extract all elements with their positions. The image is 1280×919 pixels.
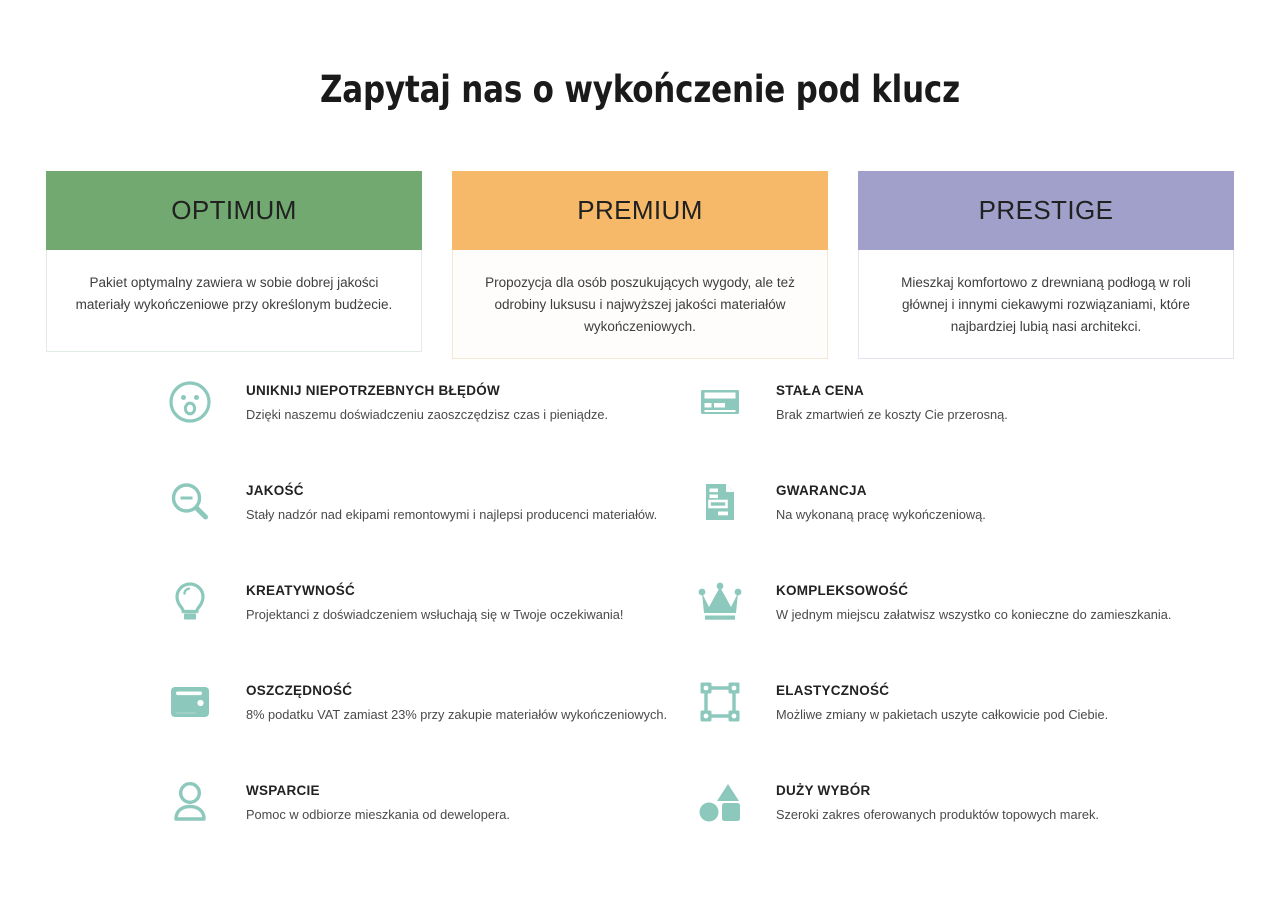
landing-page: Zapytaj nas o wykończenie pod klucz OPTI… <box>0 0 1280 919</box>
feature-title: STAŁA CENA <box>776 383 1008 398</box>
feature-text: KREATYWNOŚĆ Projektanci z doświadczeniem… <box>246 572 623 624</box>
feature-item: ELASTYCZNOŚĆ Możliwe zmiany w pakietach … <box>680 672 1210 772</box>
feature-text: KOMPLEKSOWOŚĆ W jednym miejscu załatwisz… <box>776 572 1171 624</box>
package-card-header: PREMIUM <box>452 171 828 250</box>
feature-item: OSZCZĘDNOŚĆ 8% podatku VAT zamiast 23% p… <box>150 672 680 772</box>
feature-item: KOMPLEKSOWOŚĆ W jednym miejscu załatwisz… <box>680 572 1210 672</box>
package-card-prestige[interactable]: PRESTIGE Mieszkaj komfortowo z drewnianą… <box>858 171 1234 359</box>
feature-title: WSPARCIE <box>246 783 510 798</box>
feature-description: 8% podatku VAT zamiast 23% przy zakupie … <box>246 706 667 724</box>
feature-title: GWARANCJA <box>776 483 986 498</box>
shapes-icon <box>680 772 760 832</box>
feature-title: KOMPLEKSOWOŚĆ <box>776 583 1171 598</box>
feature-text: GWARANCJA Na wykonaną pracę wykończeniow… <box>776 472 986 524</box>
page-title: Zapytaj nas o wykończenie pod klucz <box>45 68 1235 111</box>
feature-text: DUŻY WYBÓR Szeroki zakres oferowanych pr… <box>776 772 1099 824</box>
person-icon <box>150 772 230 832</box>
package-card-header: PRESTIGE <box>858 171 1234 250</box>
feature-text: ELASTYCZNOŚĆ Możliwe zmiany w pakietach … <box>776 672 1108 724</box>
crown-icon <box>680 572 760 632</box>
package-card-description: Propozycja dla osób poszukujących wygody… <box>452 250 828 359</box>
feature-item: WSPARCIE Pomoc w odbiorze mieszkania od … <box>150 772 680 872</box>
package-card-description: Pakiet optymalny zawiera w sobie dobrej … <box>46 250 422 352</box>
feature-item: GWARANCJA Na wykonaną pracę wykończeniow… <box>680 472 1210 572</box>
wallet-icon <box>150 672 230 732</box>
feature-description: Na wykonaną pracę wykończeniową. <box>776 506 986 524</box>
surprised-face-icon <box>150 372 230 432</box>
package-card-description: Mieszkaj komfortowo z drewnianą podłogą … <box>858 250 1234 359</box>
feature-title: OSZCZĘDNOŚĆ <box>246 683 667 698</box>
feature-description: Możliwe zmiany w pakietach uszyte całkow… <box>776 706 1108 724</box>
feature-text: WSPARCIE Pomoc w odbiorze mieszkania od … <box>246 772 510 824</box>
credit-card-icon <box>680 372 760 432</box>
feature-item: UNIKNIJ NIEPOTRZEBNYCH BŁĘDÓW Dzięki nas… <box>150 372 680 472</box>
package-card-premium[interactable]: PREMIUM Propozycja dla osób poszukującyc… <box>452 171 828 359</box>
feature-description: Projektanci z doświadczeniem wsłuchają s… <box>246 606 623 624</box>
feature-text: STAŁA CENA Brak zmartwień ze koszty Cie … <box>776 372 1008 424</box>
feature-title: UNIKNIJ NIEPOTRZEBNYCH BŁĘDÓW <box>246 383 608 398</box>
package-card-header: OPTIMUM <box>46 171 422 250</box>
feature-title: ELASTYCZNOŚĆ <box>776 683 1108 698</box>
package-cards: OPTIMUM Pakiet optymalny zawiera w sobie… <box>46 171 1234 359</box>
feature-title: DUŻY WYBÓR <box>776 783 1099 798</box>
document-icon <box>680 472 760 532</box>
feature-item: KREATYWNOŚĆ Projektanci z doświadczeniem… <box>150 572 680 672</box>
feature-text: OSZCZĘDNOŚĆ 8% podatku VAT zamiast 23% p… <box>246 672 667 724</box>
feature-text: UNIKNIJ NIEPOTRZEBNYCH BŁĘDÓW Dzięki nas… <box>246 372 608 424</box>
feature-item: STAŁA CENA Brak zmartwień ze koszty Cie … <box>680 372 1210 472</box>
magnifier-minus-icon <box>150 472 230 532</box>
feature-item: DUŻY WYBÓR Szeroki zakres oferowanych pr… <box>680 772 1210 872</box>
feature-description: Pomoc w odbiorze mieszkania od deweloper… <box>246 806 510 824</box>
package-card-optimum[interactable]: OPTIMUM Pakiet optymalny zawiera w sobie… <box>46 171 422 359</box>
feature-description: Stały nadzór nad ekipami remontowymi i n… <box>246 506 657 524</box>
feature-title: KREATYWNOŚĆ <box>246 583 623 598</box>
feature-item: JAKOŚĆ Stały nadzór nad ekipami remontow… <box>150 472 680 572</box>
feature-description: Szeroki zakres oferowanych produktów top… <box>776 806 1099 824</box>
feature-text: JAKOŚĆ Stały nadzór nad ekipami remontow… <box>246 472 657 524</box>
feature-description: Brak zmartwień ze koszty Cie przerosną. <box>776 406 1008 424</box>
lightbulb-icon <box>150 572 230 632</box>
feature-description: W jednym miejscu załatwisz wszystko co k… <box>776 606 1171 624</box>
feature-title: JAKOŚĆ <box>246 483 657 498</box>
transform-frame-icon <box>680 672 760 732</box>
features-grid: UNIKNIJ NIEPOTRZEBNYCH BŁĘDÓW Dzięki nas… <box>150 372 1210 872</box>
feature-description: Dzięki naszemu doświadczeniu zaoszczędzi… <box>246 406 608 424</box>
